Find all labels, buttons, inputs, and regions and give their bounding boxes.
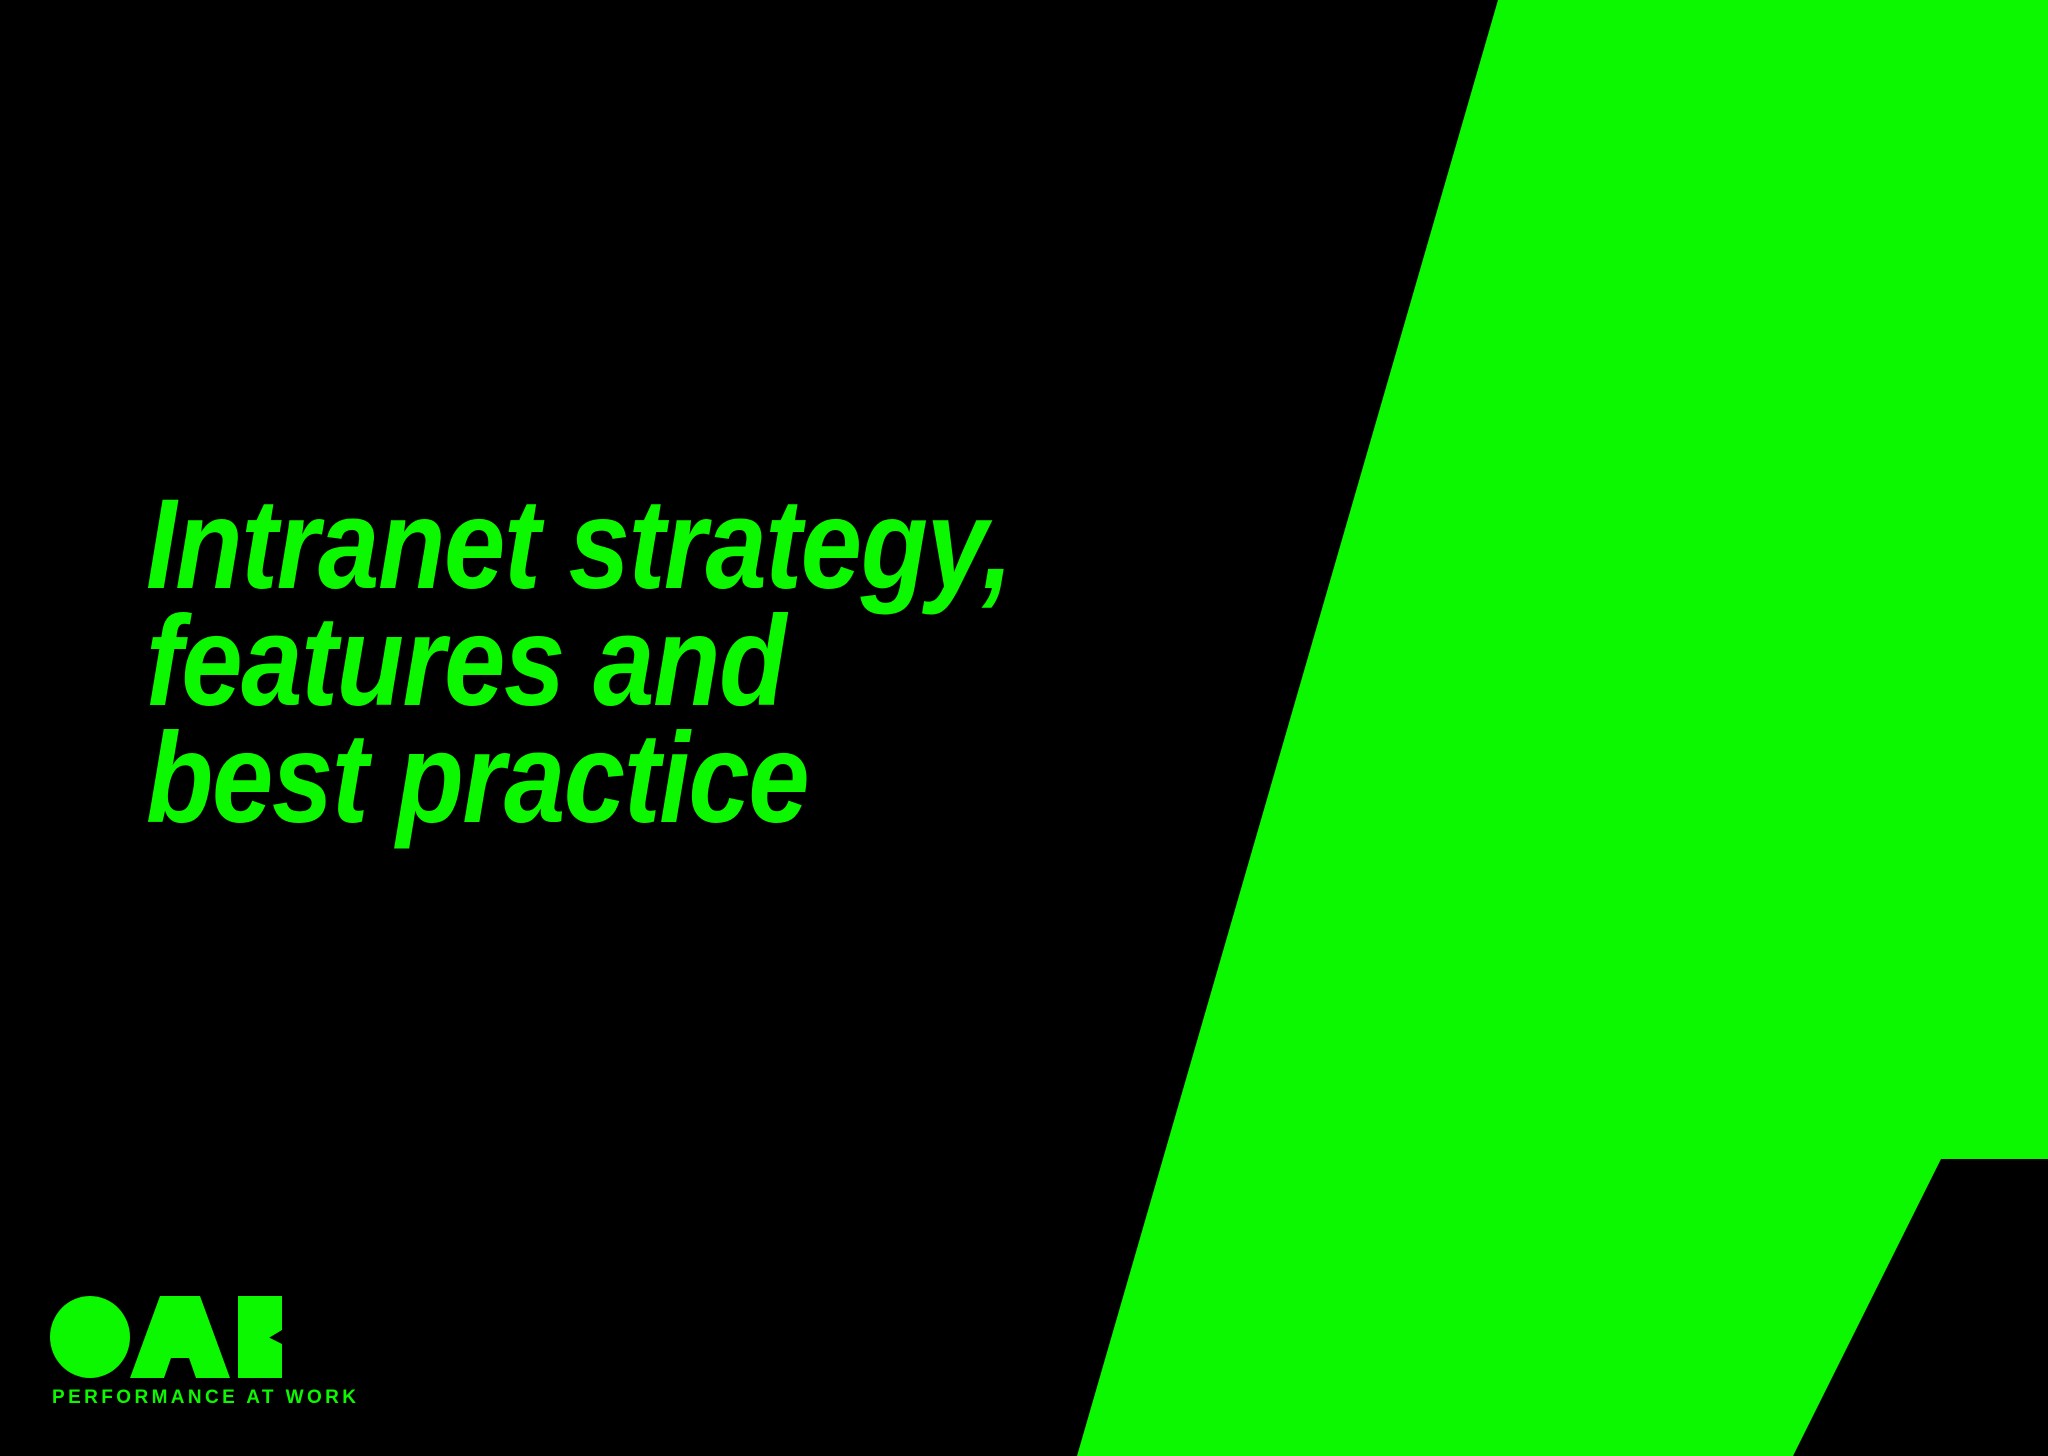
page-title-line-3: best practice — [146, 720, 1092, 837]
oak-logo: PERFORMANCE AT WORK — [50, 1296, 290, 1409]
page-title: Intranet strategy, features and best pra… — [146, 486, 1246, 837]
logo-letter-k-stem — [238, 1296, 264, 1378]
page-title-line-2: features and — [146, 603, 1092, 720]
logo-letter-o — [50, 1296, 130, 1378]
slide-canvas: Intranet strategy, features and best pra… — [0, 0, 2048, 1456]
oak-logo-tagline: PERFORMANCE AT WORK — [52, 1387, 290, 1409]
logo-letter-a — [130, 1296, 230, 1378]
page-title-line-1: Intranet strategy, — [146, 486, 1092, 603]
oak-wordmark-icon — [50, 1296, 282, 1378]
logo-letter-k-diagonals — [262, 1296, 282, 1378]
